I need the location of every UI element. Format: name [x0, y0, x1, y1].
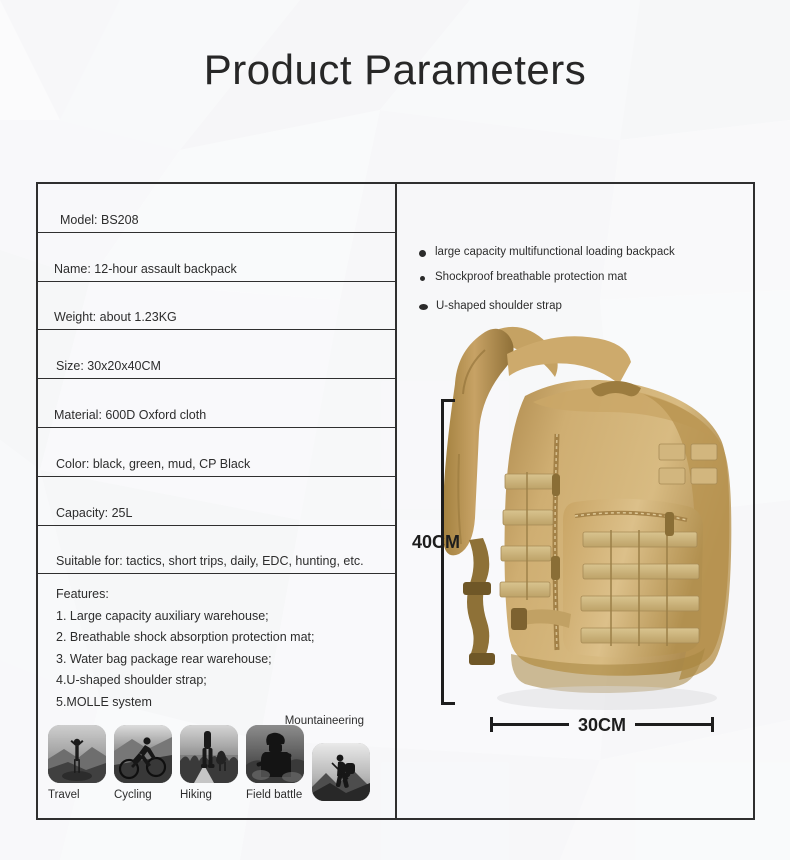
bullet-dot-icon — [419, 250, 426, 257]
spec-size: Size: 30x20x40CM — [56, 359, 161, 373]
highlight-text: U-shaped shoulder strap — [436, 300, 562, 312]
field-battle-thumbnail — [246, 725, 304, 783]
travel-thumbnail — [48, 725, 106, 783]
mountaineering-thumbnail — [312, 743, 370, 801]
feature-item-2: 2. Breathable shock absorption protectio… — [56, 627, 395, 649]
table-row: Color: black, green, mud, CP Black — [38, 428, 395, 477]
spec-model: Model: BS208 — [60, 213, 139, 227]
highlight-text: Shockproof breathable protection mat — [435, 271, 627, 283]
highlight-item: Shockproof breathable protection mat — [419, 271, 675, 283]
activity-field-battle[interactable]: Field battle — [246, 720, 304, 801]
spec-color: Color: black, green, mud, CP Black — [56, 457, 250, 471]
spec-weight: Weight: about 1.23KG — [54, 310, 177, 324]
table-row: Name: 12-hour assault backpack — [38, 233, 395, 282]
features-block: Features: 1. Large capacity auxiliary wa… — [38, 574, 395, 818]
height-dimension-bracket: 40CM — [441, 402, 458, 702]
activity-label: Travel — [48, 789, 80, 801]
table-row: Suitable for: tactics, short trips, dail… — [38, 526, 395, 575]
table-row: Weight: about 1.23KG — [38, 282, 395, 331]
spec-capacity: Capacity: 25L — [56, 506, 132, 520]
highlight-text: large capacity multifunctional loading b… — [435, 246, 675, 258]
specification-table: Model: BS208 Name: 12-hour assault backp… — [38, 184, 397, 818]
table-row: Capacity: 25L — [38, 477, 395, 526]
hiking-thumbnail — [180, 725, 238, 783]
product-image-panel: large capacity multifunctional loading b… — [397, 184, 753, 818]
width-dimension-label: 30CM — [569, 715, 635, 736]
highlight-item: U-shaped shoulder strap — [419, 300, 675, 312]
feature-item-1: 1. Large capacity auxiliary warehouse; — [56, 606, 395, 628]
width-dimension-bracket: 30CM — [490, 714, 714, 735]
activity-label: Field battle — [246, 789, 302, 801]
highlight-list: large capacity multifunctional loading b… — [419, 246, 675, 312]
tactical-backpack-photo — [407, 324, 752, 724]
highlight-item: large capacity multifunctional loading b… — [419, 246, 675, 258]
activity-label: Hiking — [180, 789, 212, 801]
activity-cycling[interactable]: Cycling — [114, 715, 172, 801]
bullet-dot-icon — [419, 304, 428, 310]
features-heading: Features: — [56, 584, 395, 606]
spec-suitable-for: Suitable for: tactics, short trips, dail… — [56, 554, 364, 568]
table-row: Material: 600D Oxford cloth — [38, 379, 395, 428]
dimension-line-right — [635, 723, 711, 726]
feature-item-4: 4.U-shaped shoulder strap; — [56, 670, 395, 692]
height-dimension-label: 40CM — [412, 532, 460, 553]
table-row: Model: BS208 — [38, 184, 395, 233]
activity-label-mountaineering: Mountaineering — [285, 715, 364, 727]
cycling-thumbnail — [114, 725, 172, 783]
activity-mountaineering[interactable]: Mountaineering — [312, 743, 370, 801]
spec-frame: Model: BS208 Name: 12-hour assault backp… — [36, 182, 755, 820]
activity-travel[interactable]: Travel — [48, 725, 106, 801]
spec-name: Name: 12-hour assault backpack — [54, 262, 237, 276]
dimension-line-left — [493, 723, 569, 726]
activity-thumbnail-strip: Travel — [48, 707, 391, 801]
dimension-cap-right — [711, 717, 714, 732]
feature-item-3: 3. Water bag package rear warehouse; — [56, 649, 395, 671]
bullet-dot-icon — [420, 276, 425, 281]
page-title: Product Parameters — [0, 46, 790, 94]
activity-hiking[interactable]: Hiking — [180, 707, 238, 801]
table-row: Size: 30x20x40CM — [38, 330, 395, 379]
spec-material: Material: 600D Oxford cloth — [54, 408, 206, 422]
activity-label: Cycling — [114, 789, 152, 801]
